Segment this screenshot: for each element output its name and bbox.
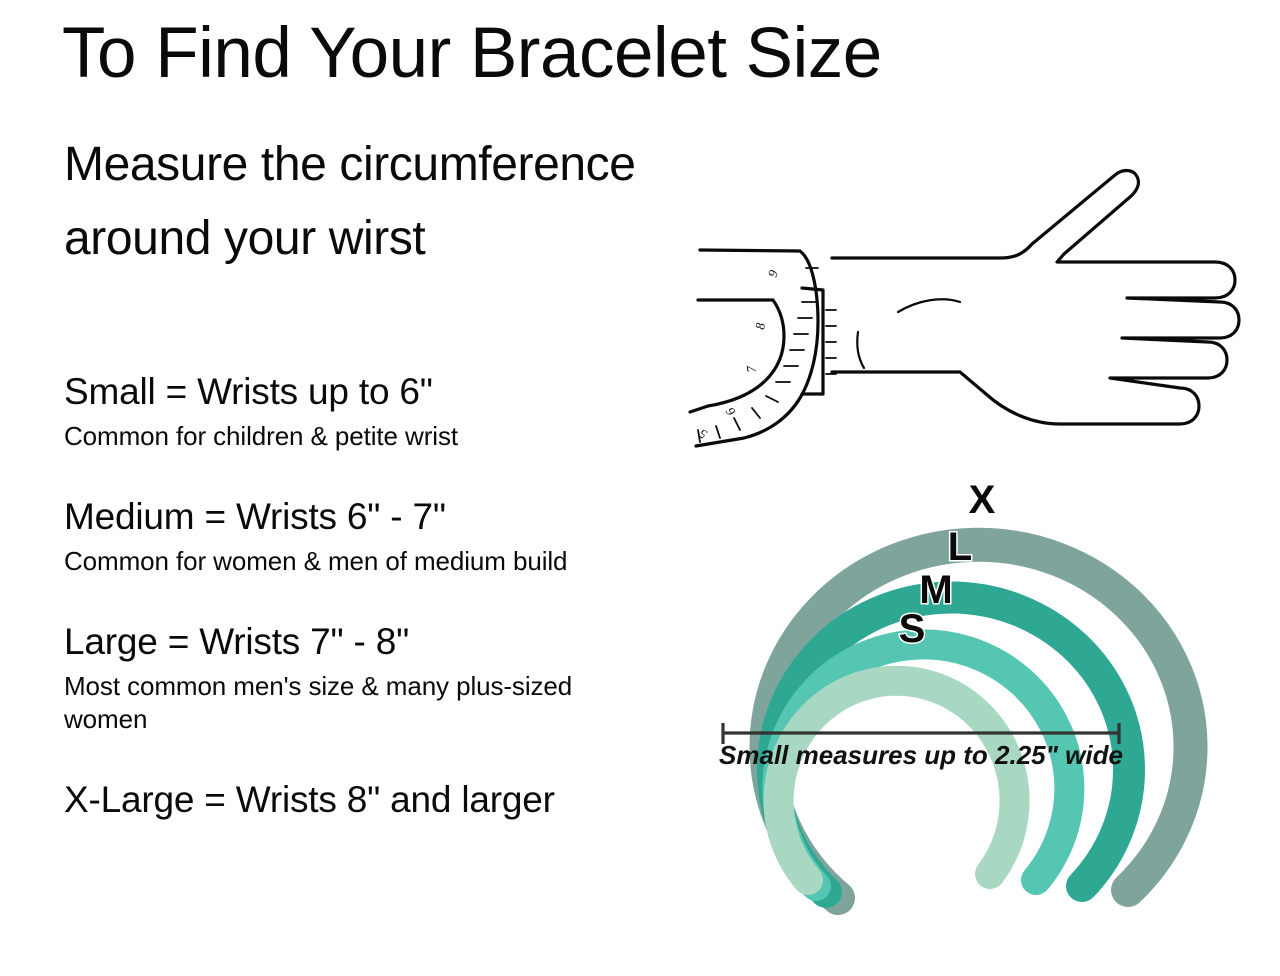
hand-with-tape-illustration: 9 8 7 6 5 xyxy=(660,150,1220,460)
measuring-tape-band-overlap xyxy=(802,288,823,394)
size-heading-xlarge: X-Large = Wrists 8" and larger xyxy=(64,776,594,823)
svg-text:8: 8 xyxy=(752,321,768,330)
size-entry-large: Large = Wrists 7" - 8" Most common men's… xyxy=(64,618,664,736)
size-heading-medium: Medium = Wrists 6" - 7" xyxy=(64,493,664,540)
size-list: Small = Wrists up to 6" Common for child… xyxy=(64,368,664,823)
page-title: To Find Your Bracelet Size xyxy=(62,14,882,94)
bracelet-label-medium: M xyxy=(919,568,952,612)
size-entry-medium: Medium = Wrists 6" - 7" Common for women… xyxy=(64,493,664,578)
bracelet-label-small: S xyxy=(899,607,926,651)
dimension-caption: Small measures up to 2.25" wide xyxy=(719,740,1123,770)
bracelet-illustration-svg: X L M S Small measures up to 2.25" wide xyxy=(650,450,1250,920)
size-description-small: Common for children & petite wrist xyxy=(64,420,604,453)
hand-outline-icon xyxy=(832,171,1239,425)
svg-text:7: 7 xyxy=(743,365,759,374)
size-entry-small: Small = Wrists up to 6" Common for child… xyxy=(64,368,664,453)
bracelet-label-large: L xyxy=(948,525,972,569)
size-heading-large: Large = Wrists 7" - 8" xyxy=(64,618,664,665)
measuring-tape-inner-edge xyxy=(690,300,784,412)
size-entry-xlarge: X-Large = Wrists 8" and larger xyxy=(64,776,664,823)
measuring-tape-numbers: 9 8 7 6 5 xyxy=(696,268,781,443)
svg-text:9: 9 xyxy=(765,268,781,279)
palm-crease-line-1 xyxy=(898,299,960,312)
hand-illustration-svg: 9 8 7 6 5 xyxy=(660,150,1220,460)
size-heading-small: Small = Wrists up to 6" xyxy=(64,368,664,415)
measuring-tape-outer-edge xyxy=(696,250,818,446)
palm-crease-line-2 xyxy=(857,332,864,368)
bracelet-label-xlarge: X xyxy=(969,478,996,522)
size-description-medium: Common for women & men of medium build xyxy=(64,545,604,578)
bracelet-sizes-illustration: X L M S Small measures up to 2.25" wide xyxy=(650,450,1250,920)
bracelet-size-guide-page: To Find Your Bracelet Size Measure the c… xyxy=(0,0,1280,976)
svg-text:6: 6 xyxy=(722,405,738,419)
size-description-large: Most common men's size & many plus-sized… xyxy=(64,670,604,736)
